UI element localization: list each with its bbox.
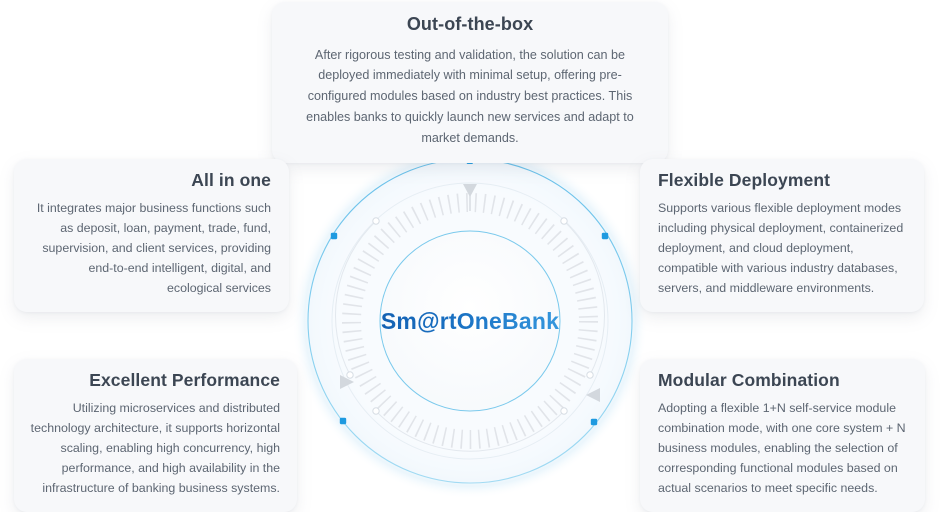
card-title-excellent-performance: Excellent Performance bbox=[30, 370, 280, 391]
feature-card-flexible-deployment[interactable]: Flexible Deployment Supports various fle… bbox=[640, 159, 924, 312]
card-body-out-of-the-box: After rigorous testing and validation, t… bbox=[292, 45, 648, 149]
brand-label: Sm@rtOneBank bbox=[288, 139, 652, 503]
feature-card-all-in-one[interactable]: All in one It integrates major business … bbox=[14, 159, 289, 312]
card-title-all-in-one: All in one bbox=[30, 170, 271, 191]
feature-card-out-of-the-box[interactable]: Out-of-the-box After rigorous testing an… bbox=[272, 2, 668, 163]
feature-card-excellent-performance[interactable]: Excellent Performance Utilizing microser… bbox=[14, 359, 297, 512]
card-title-out-of-the-box: Out-of-the-box bbox=[292, 14, 648, 36]
feature-card-modular-combination[interactable]: Modular Combination Adopting a flexible … bbox=[640, 359, 925, 512]
card-body-flexible-deployment: Supports various flexible deployment mod… bbox=[658, 198, 907, 298]
card-body-excellent-performance: Utilizing microservices and distributed … bbox=[30, 398, 280, 498]
card-body-all-in-one: It integrates major business functions s… bbox=[30, 198, 271, 298]
card-body-modular-combination: Adopting a flexible 1+N self-service mod… bbox=[658, 398, 908, 498]
card-title-flexible-deployment: Flexible Deployment bbox=[658, 170, 907, 191]
card-title-modular-combination: Modular Combination bbox=[658, 370, 908, 391]
